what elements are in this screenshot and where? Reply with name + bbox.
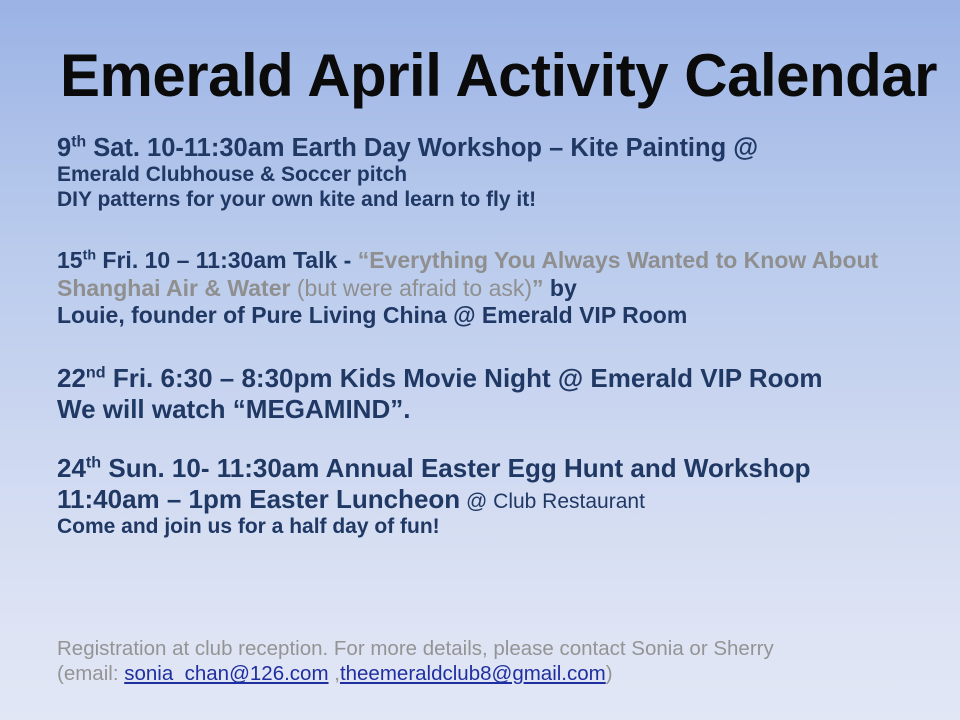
event-item-april-9: 9th Sat. 10-11:30am Earth Day Workshop –… bbox=[57, 133, 907, 213]
event-speaker-line: Louie, founder of Pure Living China @ Em… bbox=[57, 302, 907, 329]
email-link-emeraldclub[interactable]: theemeraldclub8@gmail.com bbox=[340, 662, 606, 685]
event-headline: 22nd Fri. 6:30 – 8:30pm Kids Movie Night… bbox=[57, 363, 907, 394]
event-quote-close: ” bbox=[532, 275, 544, 301]
event-headline-text: Sat. 10-11:30am Earth Day Workshop – Kit… bbox=[86, 134, 758, 162]
event-day-ordinal: nd bbox=[86, 364, 106, 382]
event-headline: 24th Sun. 10- 11:30am Annual Easter Egg … bbox=[57, 453, 907, 484]
footer-email-line: (email: sonia_chan@126.com ,theemeraldcl… bbox=[57, 661, 917, 686]
footer-note: Registration at club reception. For more… bbox=[57, 636, 917, 687]
event-day-number: 15 bbox=[57, 247, 83, 273]
event-location: Emerald Clubhouse & Soccer pitch bbox=[57, 163, 907, 188]
event-day-ordinal: th bbox=[71, 134, 86, 151]
event-detail: DIY patterns for your own kite and learn… bbox=[57, 188, 907, 213]
event-venue: @ Club Restaurant bbox=[460, 490, 645, 513]
footer-email-prefix: (email: bbox=[57, 662, 124, 685]
event-headline: 15th Fri. 10 – 11:30am Talk - “Everythin… bbox=[57, 247, 907, 302]
event-spacer bbox=[57, 213, 907, 247]
event-item-april-15: 15th Fri. 10 – 11:30am Talk - “Everythin… bbox=[57, 247, 907, 329]
page-title: Emerald April Activity Calendar bbox=[60, 44, 900, 107]
event-secondary-line: 11:40am – 1pm Easter Luncheon @ Club Res… bbox=[57, 484, 907, 515]
footer-email-separator: , bbox=[329, 662, 340, 685]
event-quote-open: “ bbox=[358, 247, 370, 273]
footer-registration-line: Registration at club reception. For more… bbox=[57, 636, 917, 661]
event-quote-aside: (but were afraid to ask) bbox=[290, 275, 532, 301]
event-detail: Come and join us for a half day of fun! bbox=[57, 515, 907, 540]
event-item-april-22: 22nd Fri. 6:30 – 8:30pm Kids Movie Night… bbox=[57, 363, 907, 425]
event-day-number: 22 bbox=[57, 363, 86, 393]
event-headline: 9th Sat. 10-11:30am Earth Day Workshop –… bbox=[57, 133, 907, 163]
event-spacer bbox=[57, 425, 907, 453]
event-day-ordinal: th bbox=[86, 454, 101, 472]
event-luncheon-time: 11:40am – 1pm Easter Luncheon bbox=[57, 484, 460, 514]
event-item-april-24: 24th Sun. 10- 11:30am Annual Easter Egg … bbox=[57, 453, 907, 540]
event-byline-word: by bbox=[544, 275, 577, 301]
event-headline-text: Fri. 6:30 – 8:30pm Kids Movie Night @ Em… bbox=[106, 363, 823, 393]
event-headline-text: Sun. 10- 11:30am Annual Easter Egg Hunt … bbox=[101, 453, 810, 483]
slide: Emerald April Activity Calendar 9th Sat.… bbox=[0, 0, 960, 720]
event-headline-text: Fri. 10 – 11:30am Talk - bbox=[96, 247, 358, 273]
event-day-number: 24 bbox=[57, 453, 86, 483]
event-day-ordinal: th bbox=[83, 248, 96, 264]
event-detail: We will watch “MEGAMIND”. bbox=[57, 394, 907, 425]
events-list: 9th Sat. 10-11:30am Earth Day Workshop –… bbox=[57, 133, 907, 540]
event-spacer bbox=[57, 329, 907, 363]
email-link-sonia[interactable]: sonia_chan@126.com bbox=[124, 662, 328, 685]
event-day-number: 9 bbox=[57, 134, 71, 162]
footer-email-suffix: ) bbox=[606, 662, 613, 685]
